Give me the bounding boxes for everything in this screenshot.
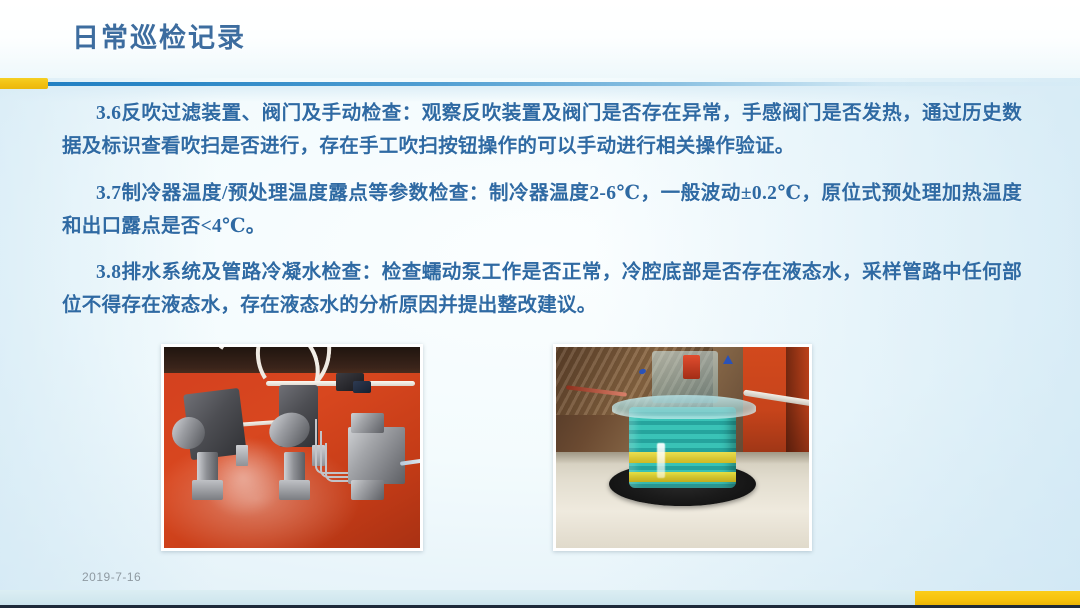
- yellow-coil-band-lower: [629, 472, 735, 482]
- glass-specular-highlight: [657, 443, 665, 477]
- header-accent-bar: [0, 78, 48, 89]
- din-rail-bottom: [351, 480, 384, 500]
- slide-canvas: 日常巡检记录 3.6反吹过滤装置、阀门及手动检查：观察反吹装置及阀门是否存在异常…: [0, 0, 1080, 608]
- terminal-block-rail: [348, 427, 404, 483]
- chamber-photo-content: [556, 347, 809, 548]
- header-divider-line: [0, 82, 1080, 86]
- condenser-cooling-chamber-photo: [553, 344, 812, 551]
- red-indicator-marker: [683, 355, 701, 379]
- page-title: 日常巡检记录: [72, 16, 246, 55]
- yellow-coil-band-upper: [629, 452, 735, 463]
- valves-photo-content: [164, 347, 420, 548]
- footer-date: 2019-7-16: [82, 570, 141, 584]
- valve-base-middle: [279, 480, 310, 500]
- blue-flow-arrow-icon: [723, 355, 733, 364]
- valve-base-left: [192, 480, 223, 500]
- valves-on-orange-panel-photo: [161, 344, 423, 551]
- black-tube-fitting-2: [353, 381, 371, 393]
- footer-accent-bar: [915, 591, 1080, 606]
- panel-clip-left: [236, 445, 249, 465]
- paragraph-3-8: 3.8排水系统及管路冷凝水检查：检查蠕动泵工作是否正常，冷腔底部是否存在液态水，…: [62, 256, 1022, 322]
- din-rail-top: [351, 413, 384, 433]
- paragraph-3-7: 3.7制冷器温度/预处理温度露点等参数检查：制冷器温度2-6℃，一般波动±0.2…: [62, 177, 1022, 243]
- body-content: 3.6反吹过滤装置、阀门及手动检查：观察反吹装置及阀门是否存在异常，手感阀门是否…: [62, 97, 1022, 331]
- paragraph-3-6: 3.6反吹过滤装置、阀门及手动检查：观察反吹装置及阀门是否存在异常，手感阀门是否…: [62, 97, 1022, 163]
